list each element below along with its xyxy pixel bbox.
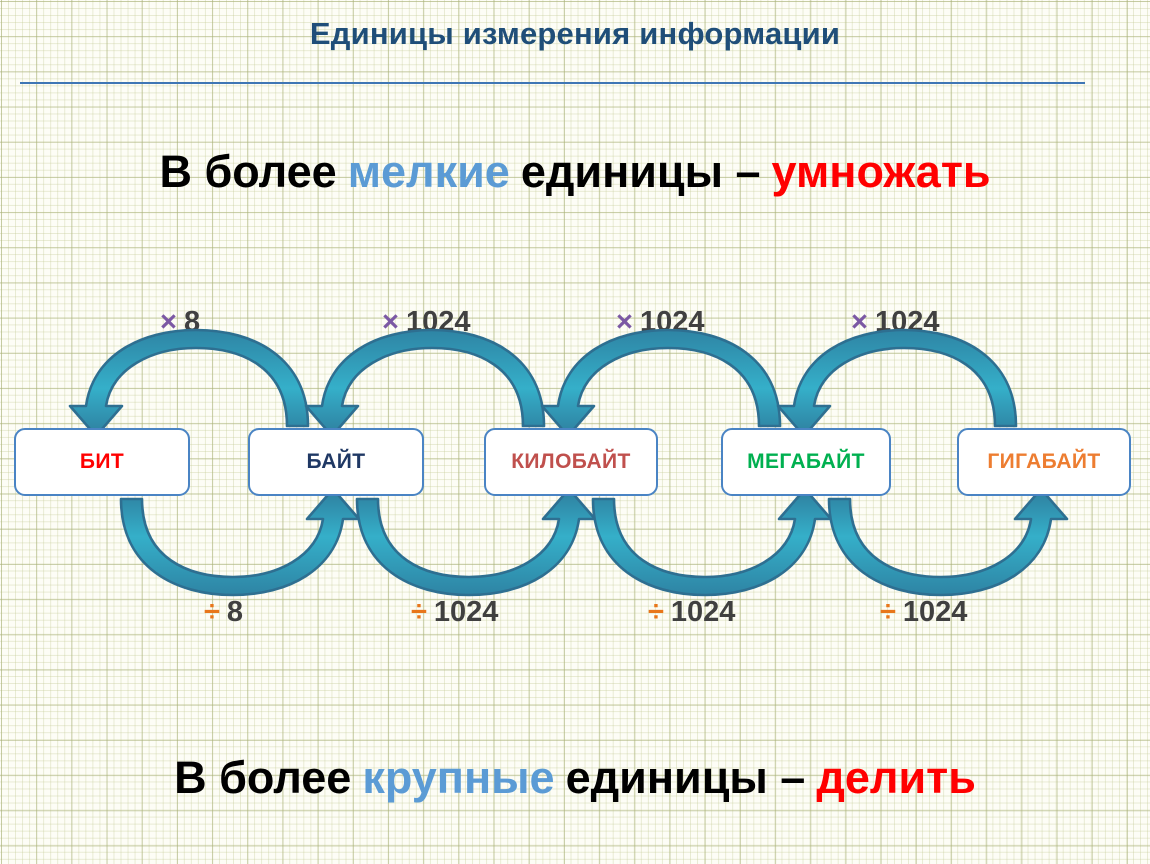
headline-bottom-action: делить — [816, 752, 976, 803]
arrow-bottom-4 — [829, 489, 1067, 595]
headline-top-highlight: мелкие — [348, 146, 510, 197]
multiply-label-mb-gb: ×1024 — [851, 306, 939, 339]
unit-box-kilobyte[interactable]: КИЛОБАЙТ — [484, 428, 658, 496]
multiply-symbol: × — [851, 306, 868, 338]
arrow-top-2 — [306, 330, 544, 436]
divide-value: 1024 — [671, 596, 736, 628]
multiply-symbol: × — [382, 306, 399, 338]
arrow-top-3 — [542, 330, 780, 436]
arrow-bottom-2 — [357, 489, 595, 595]
unit-box-megabyte[interactable]: МЕГАБАЙТ — [721, 428, 891, 496]
unit-box-byte[interactable]: БАЙТ — [248, 428, 424, 496]
divide-value: 1024 — [434, 596, 499, 628]
divide-symbol: ÷ — [648, 596, 664, 628]
arrow-bottom-3 — [593, 489, 831, 595]
unit-box-gigabyte[interactable]: ГИГАБАЙТ — [957, 428, 1131, 496]
divide-symbol: ÷ — [204, 596, 220, 628]
divide-label-bit-byte: ÷8 — [204, 596, 243, 629]
headline-bottom-part2: единицы – — [566, 752, 806, 803]
arrow-top-1 — [70, 330, 308, 436]
divide-value: 1024 — [903, 596, 968, 628]
divide-label-mb-gb: ÷1024 — [880, 596, 967, 629]
multiply-symbol: × — [616, 306, 633, 338]
unit-box-bit[interactable]: БИТ — [14, 428, 190, 496]
title-divider — [20, 82, 1085, 84]
unit-label-bit: БИТ — [80, 450, 124, 474]
multiply-value: 1024 — [875, 306, 940, 338]
multiply-value: 1024 — [406, 306, 471, 338]
headline-top-part2: единицы – — [521, 146, 761, 197]
unit-label-byte: БАЙТ — [307, 450, 366, 474]
headline-multiply: В болеемелкиеединицы –умножать — [0, 146, 1150, 198]
arrow-top-4 — [778, 330, 1016, 436]
unit-label-kilobyte: КИЛОБАЙТ — [511, 450, 631, 474]
multiply-symbol: × — [160, 306, 177, 338]
multiply-label-byte-kb: ×1024 — [382, 306, 470, 339]
arrow-bottom-1 — [121, 489, 359, 595]
divide-label-byte-kb: ÷1024 — [411, 596, 498, 629]
headline-top-part1: В более — [159, 146, 336, 197]
unit-label-gigabyte: ГИГАБАЙТ — [987, 450, 1100, 474]
headline-bottom-part1: В более — [174, 752, 351, 803]
multiply-label-kb-mb: ×1024 — [616, 306, 704, 339]
divide-symbol: ÷ — [880, 596, 896, 628]
multiply-value: 1024 — [640, 306, 705, 338]
unit-label-megabyte: МЕГАБАЙТ — [747, 450, 865, 474]
divide-symbol: ÷ — [411, 596, 427, 628]
headline-bottom-highlight: крупные — [362, 752, 554, 803]
headline-top-action: умножать — [772, 146, 991, 197]
multiply-label-bit-byte: ×8 — [160, 306, 200, 339]
page-title: Единицы измерения информации — [0, 16, 1150, 52]
divide-label-kb-mb: ÷1024 — [648, 596, 735, 629]
multiply-value: 8 — [184, 306, 200, 338]
divide-value: 8 — [227, 596, 243, 628]
headline-divide: В болеекрупныеединицы –делить — [0, 752, 1150, 804]
